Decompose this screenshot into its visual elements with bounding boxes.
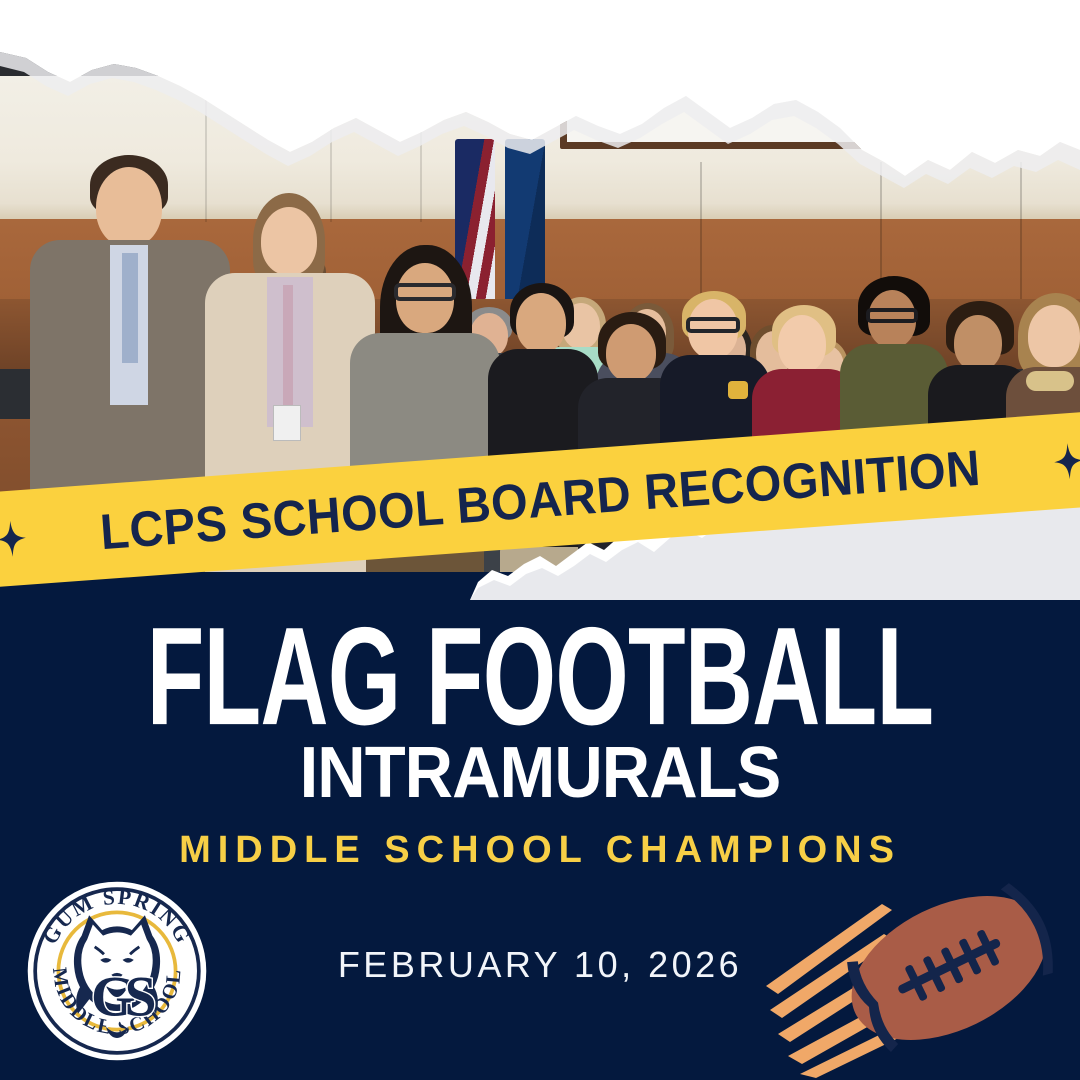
logo-monogram: G S <box>91 966 157 1029</box>
projector-screen <box>560 54 1000 149</box>
title-line-2: INTRAMURALS <box>38 737 1042 809</box>
football-ball <box>828 866 1070 1069</box>
sparkle-icon <box>1053 442 1080 480</box>
school-logo: GUM SPRING MIDDLE SCHOOL G S <box>24 878 210 1064</box>
poster-canvas: LCPS SCHOOL BOARD RECOGNITION FLAG FOOTB… <box>0 0 1080 1080</box>
svg-text:S: S <box>124 966 156 1029</box>
football-icon <box>764 848 1074 1078</box>
banner-label: LCPS SCHOOL BOARD RECOGNITION <box>98 438 982 560</box>
recognition-banner: LCPS SCHOOL BOARD RECOGNITION <box>0 430 1080 590</box>
sparkle-icon <box>0 519 27 557</box>
title-block: FLAG FOOTBALL INTRAMURALS MIDDLE SCHOOL … <box>0 612 1080 872</box>
title-line-1: FLAG FOOTBALL <box>108 612 972 743</box>
